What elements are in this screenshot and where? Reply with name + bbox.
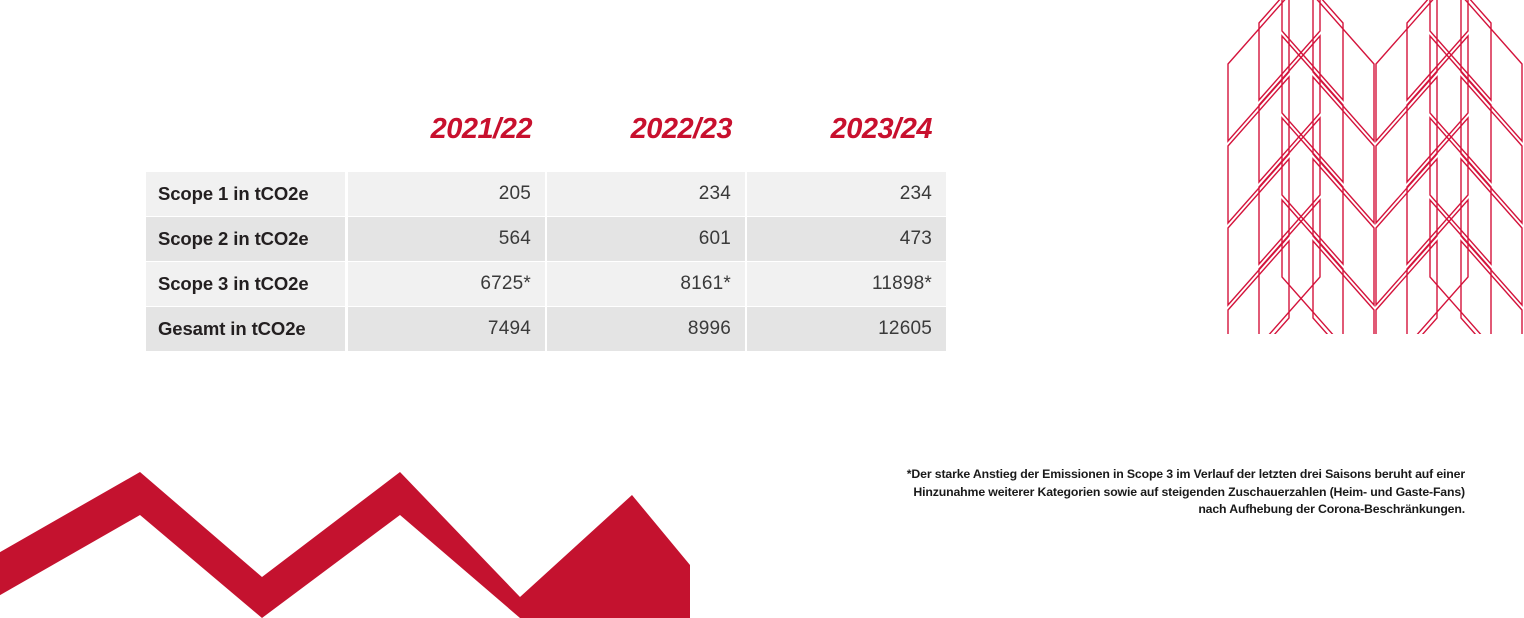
cell-gesamt-2023-24: 12605	[746, 307, 946, 352]
zigzag-notch-right	[262, 515, 520, 618]
column-header-2021-22: 2021/22	[346, 112, 546, 172]
cell-scope-1-2022-23: 234	[546, 172, 746, 217]
chevron-pattern-graphic	[1226, 0, 1524, 334]
column-header-2023-24: 2023/24	[746, 112, 946, 172]
zigzag-svg	[0, 455, 690, 618]
cell-scope-3-2022-23: 8161*	[546, 262, 746, 307]
footnote-text: *Der starke Anstieg der Emissionen in Sc…	[905, 466, 1465, 519]
cell-scope-2-2023-24: 473	[746, 217, 946, 262]
cell-scope-3-2023-24: 11898*	[746, 262, 946, 307]
cell-scope-1-2021-22: 205	[346, 172, 546, 217]
zigzag-graphic	[0, 455, 690, 618]
emissions-table: 2021/22 2022/23 2023/24 Scope 1 in tCO2e…	[146, 112, 946, 351]
emissions-table-container: 2021/22 2022/23 2023/24 Scope 1 in tCO2e…	[146, 112, 946, 351]
page-root: 2021/22 2022/23 2023/24 Scope 1 in tCO2e…	[0, 0, 1524, 618]
table-corner-header	[146, 112, 346, 172]
column-header-2022-23: 2022/23	[546, 112, 746, 172]
table-header-row: 2021/22 2022/23 2023/24	[146, 112, 946, 172]
table-row: Scope 3 in tCO2e 6725* 8161* 11898*	[146, 262, 946, 307]
chevron-pattern-svg	[1226, 0, 1524, 334]
table-row: Scope 2 in tCO2e 564 601 473	[146, 217, 946, 262]
table-header: 2021/22 2022/23 2023/24	[146, 112, 946, 172]
cell-scope-2-2021-22: 564	[346, 217, 546, 262]
row-label-gesamt: Gesamt in tCO2e	[146, 307, 346, 352]
zigzag-notch-left	[0, 515, 262, 618]
table-row: Gesamt in tCO2e 7494 8996 12605	[146, 307, 946, 352]
table-body: Scope 1 in tCO2e 205 234 234 Scope 2 in …	[146, 172, 946, 351]
row-label-scope-1: Scope 1 in tCO2e	[146, 172, 346, 217]
cell-gesamt-2021-22: 7494	[346, 307, 546, 352]
row-label-scope-2: Scope 2 in tCO2e	[146, 217, 346, 262]
cell-scope-3-2021-22: 6725*	[346, 262, 546, 307]
zigzag-path	[0, 472, 690, 618]
table-row: Scope 1 in tCO2e 205 234 234	[146, 172, 946, 217]
cell-scope-2-2022-23: 601	[546, 217, 746, 262]
cell-gesamt-2022-23: 8996	[546, 307, 746, 352]
row-label-scope-3: Scope 3 in tCO2e	[146, 262, 346, 307]
cell-scope-1-2023-24: 234	[746, 172, 946, 217]
